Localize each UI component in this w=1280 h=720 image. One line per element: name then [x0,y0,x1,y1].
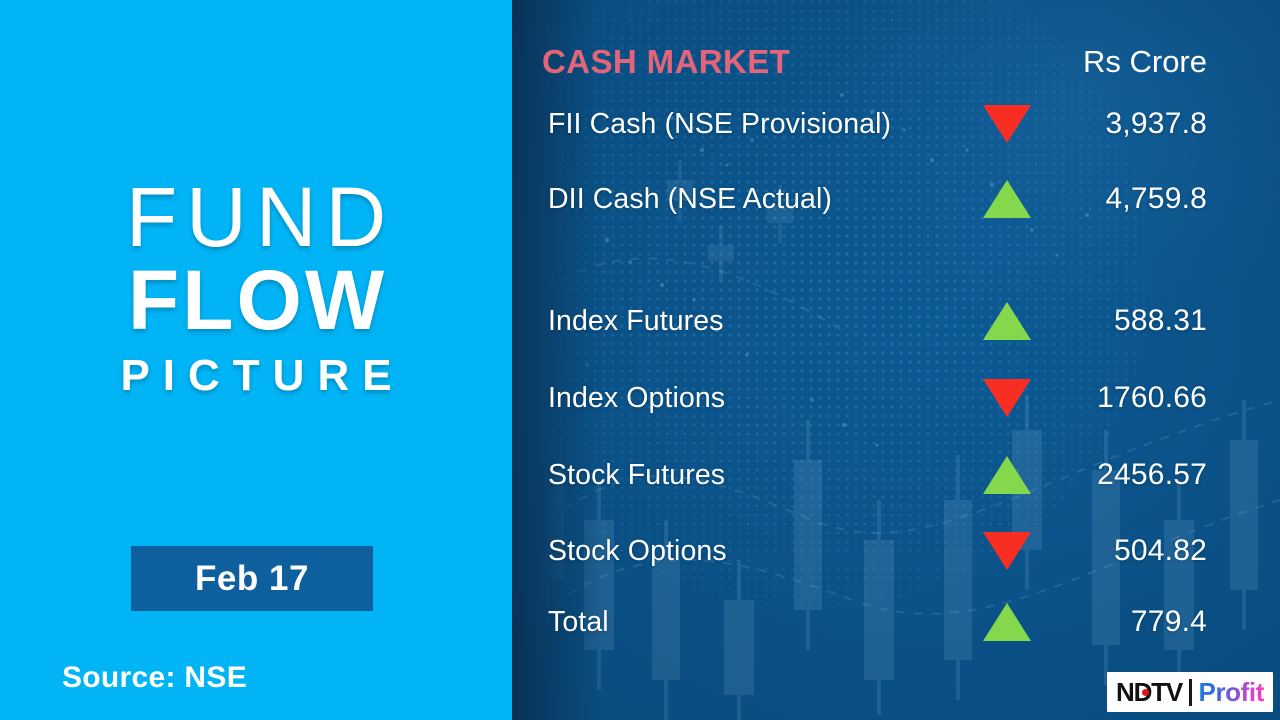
source-label: Source: NSE [62,661,247,695]
row-direction [979,372,1035,424]
triangle-up-icon [983,603,1031,641]
row-direction [979,596,1035,648]
row-value: 1760.66 [1097,372,1207,424]
triangle-down-icon [983,105,1031,143]
row-label: Index Futures [548,295,724,347]
row-value: 3,937.8 [1106,98,1208,150]
table-row: DII Cash (NSE Actual)4,759.8 [512,173,1280,225]
row-value: 2456.57 [1097,449,1207,501]
brand-line-fund: FUND [0,176,512,258]
brand-line-picture: PICTURE [0,348,512,403]
row-value: 779.4 [1131,596,1207,648]
fund-flow-infographic: FUND FLOW PICTURE Feb 17 Source: NSE [0,0,1280,720]
row-direction [979,173,1035,225]
table-row: Total779.4 [512,596,1280,648]
table-header-row: CASH MARKET Rs Crore [512,34,1280,90]
triangle-down-icon [983,379,1031,417]
date-badge: Feb 17 [131,546,373,611]
row-value: 504.82 [1114,525,1207,577]
row-label: Total [548,596,609,648]
row-label: FII Cash (NSE Provisional) [548,98,891,150]
left-brand-panel: FUND FLOW PICTURE Feb 17 Source: NSE [0,0,512,720]
row-value: 588.31 [1114,295,1207,347]
ndtv-text: NDTV [1116,677,1182,707]
ndtv-profit-logo: NDTV Profit [1107,672,1273,712]
row-direction [979,295,1035,347]
table-row: FII Cash (NSE Provisional)3,937.8 [512,98,1280,150]
brand-line-flow: FLOW [0,258,512,344]
fund-flow-table: CASH MARKET Rs Crore FII Cash (NSE Provi… [512,0,1280,720]
row-direction [979,449,1035,501]
table-row: Index Futures588.31 [512,295,1280,347]
row-direction [979,525,1035,577]
table-row: Index Options1760.66 [512,372,1280,424]
right-data-panel: CASH MARKET Rs Crore FII Cash (NSE Provi… [512,0,1280,720]
table-row: Stock Options504.82 [512,525,1280,577]
row-label: Stock Futures [548,449,725,501]
row-label: Index Options [548,372,725,424]
unit-label: Rs Crore [1083,34,1207,90]
triangle-up-icon [983,302,1031,340]
row-label: DII Cash (NSE Actual) [548,173,832,225]
triangle-down-icon [983,532,1031,570]
triangle-up-icon [983,180,1031,218]
profit-wordmark: Profit [1199,677,1264,708]
row-direction [979,98,1035,150]
table-row: Stock Futures2456.57 [512,449,1280,501]
brand-title: FUND FLOW PICTURE [0,176,512,403]
logo-divider [1189,679,1192,706]
ndtv-wordmark: NDTV [1116,677,1182,708]
row-value: 4,759.8 [1106,173,1208,225]
date-badge-label: Feb 17 [195,559,309,599]
ndtv-red-dot-icon [1142,689,1149,696]
triangle-up-icon [983,456,1031,494]
section-title: CASH MARKET [542,34,790,90]
row-label: Stock Options [548,525,727,577]
